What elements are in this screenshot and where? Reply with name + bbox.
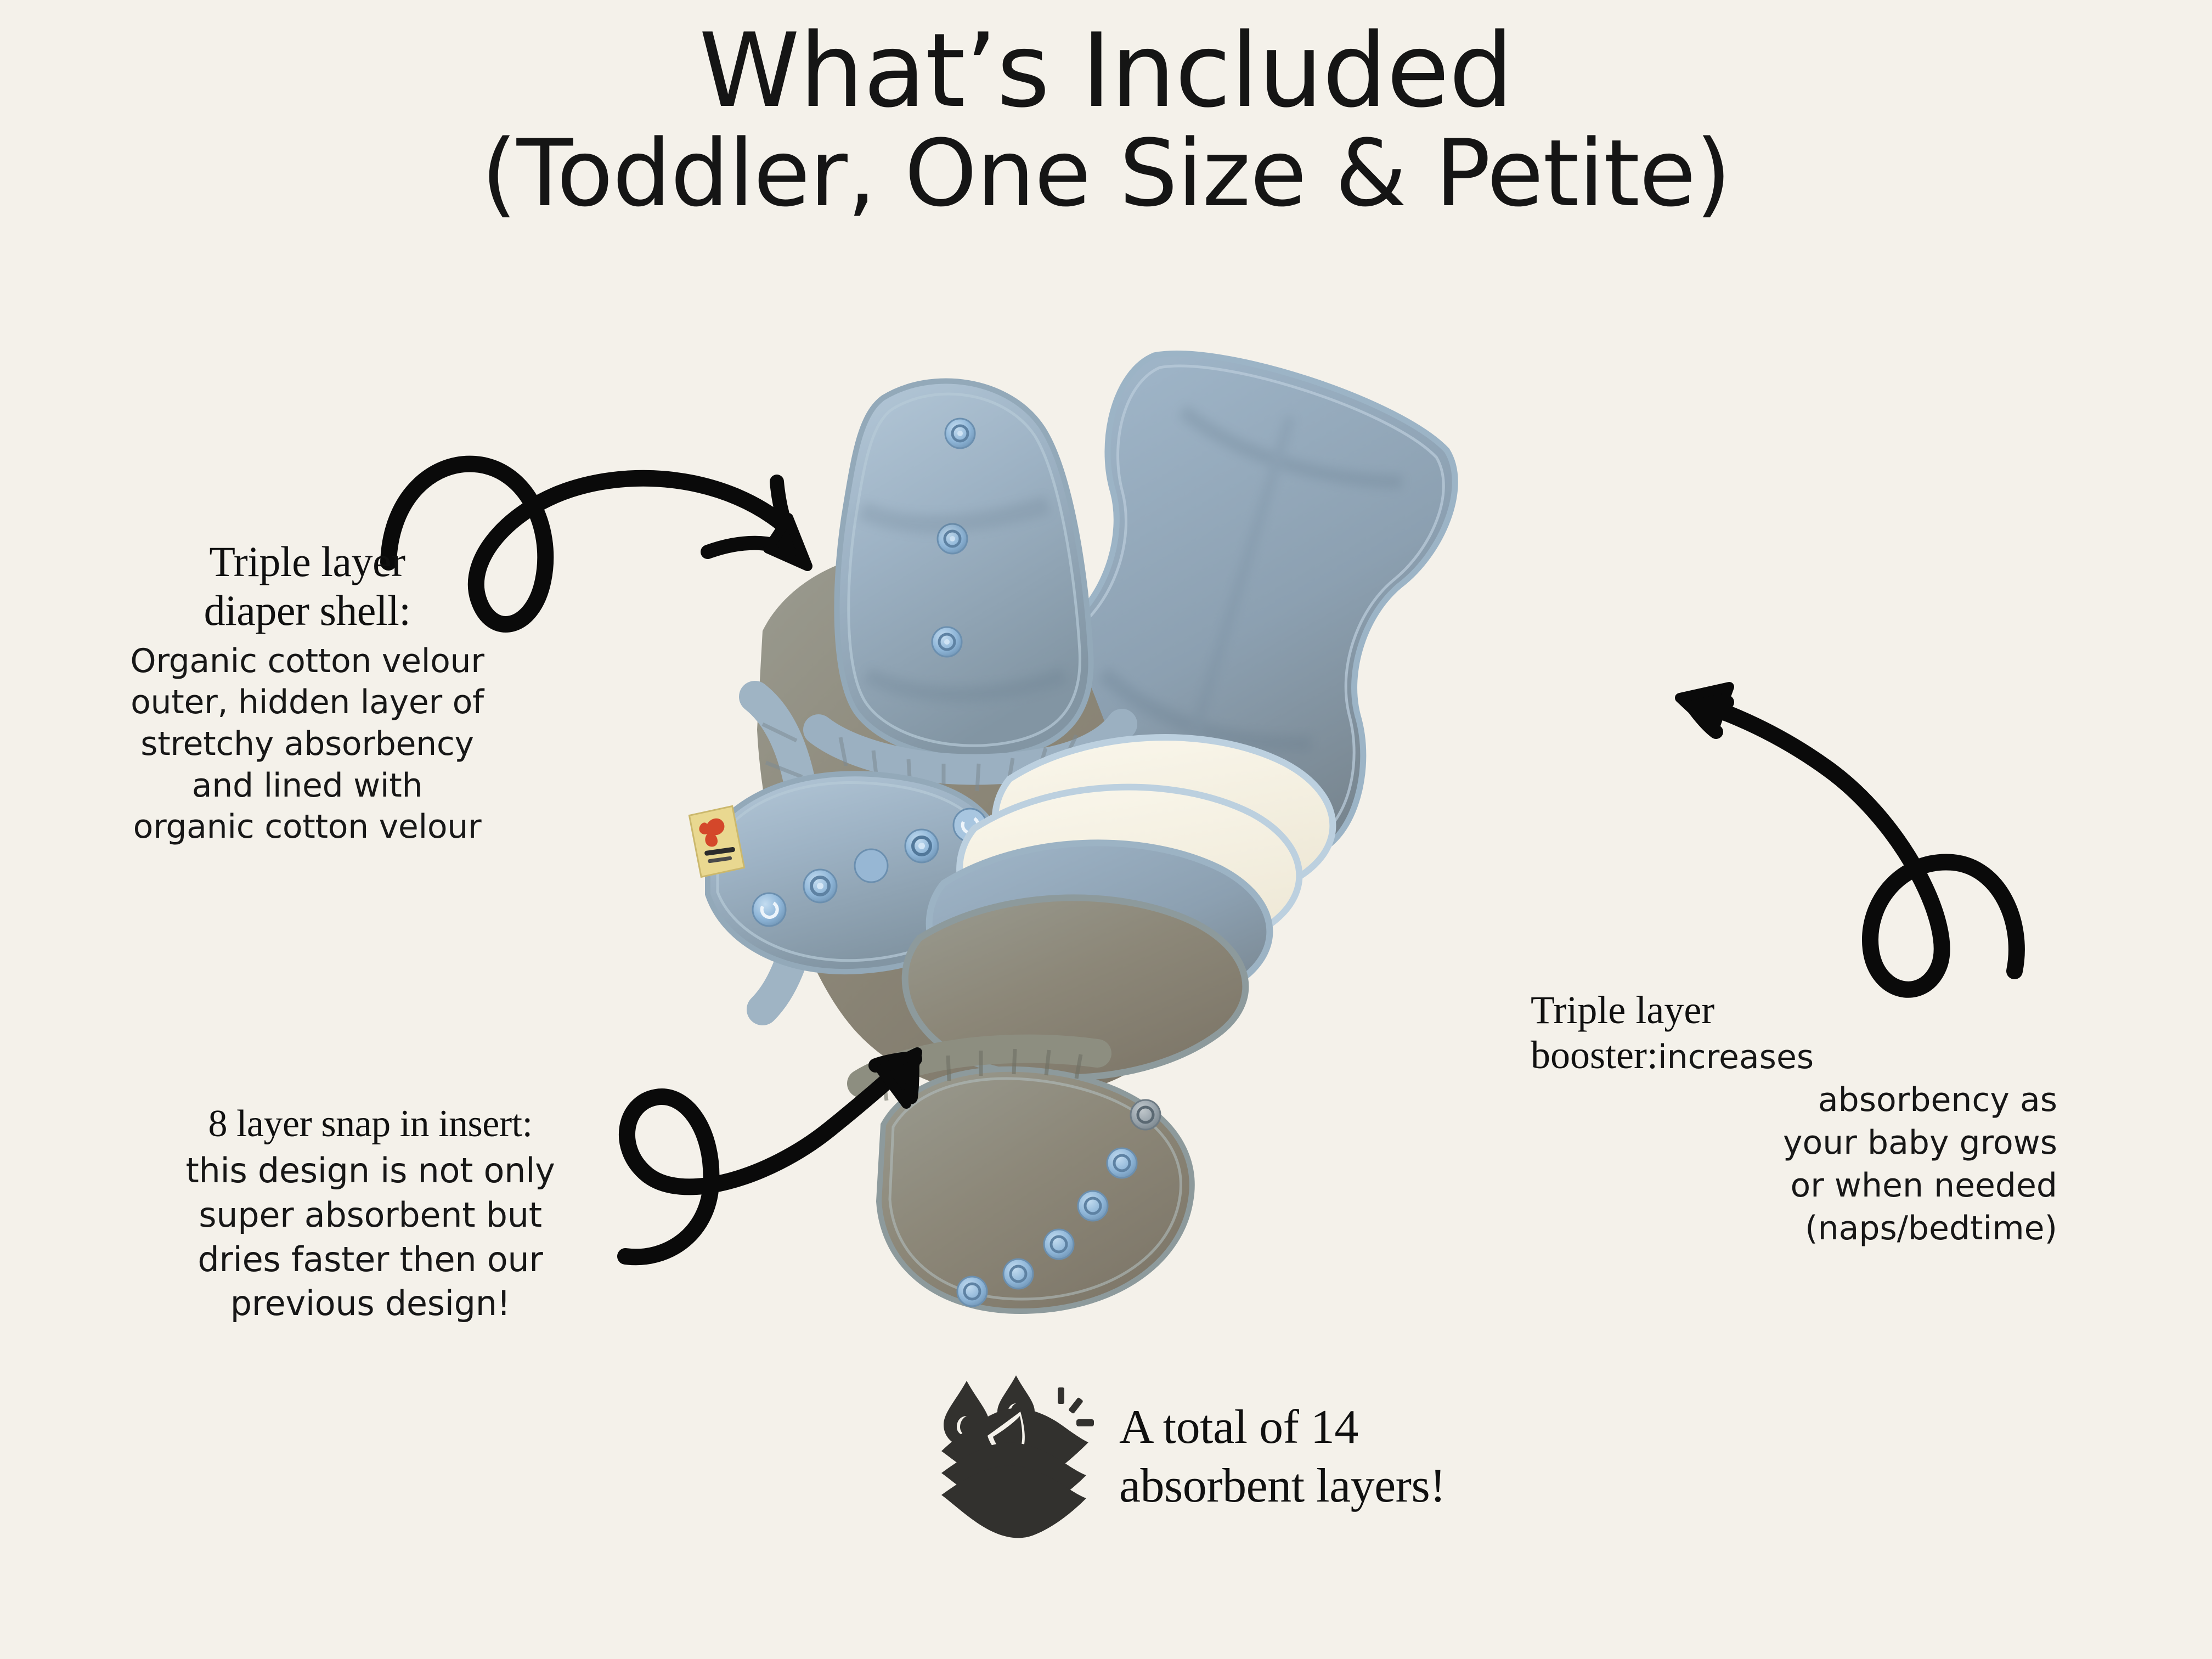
callout-booster-lead: increases [1658, 1038, 1814, 1076]
total-layers-block: A total of 14 absorbent layers! [933, 1374, 1446, 1539]
page-title: What’s Included (Toddler, One Size & Pet… [0, 16, 2212, 222]
total-layers-text: A total of 14 absorbent layers! [1119, 1398, 1446, 1516]
title-line-1: What’s Included [0, 16, 2212, 125]
callout-insert-body: this design is not only super absorbent … [118, 1149, 623, 1325]
arrow-to-booster [1680, 687, 2017, 990]
callout-triple-layer-booster: Triple layer booster:increases absorbenc… [1531, 988, 2057, 1250]
callout-booster-heading-row: booster:increases [1531, 1032, 2057, 1077]
callout-shell-heading: Triple layer diaper shell: [60, 538, 554, 635]
shell-wing-bottom [861, 1049, 1192, 1311]
callout-insert-heading: 8 layer snap in insert: [118, 1103, 623, 1145]
callout-booster-body: absorbency as your baby grows or when ne… [1531, 1079, 2057, 1250]
callout-diaper-shell: Triple layer diaper shell: Organic cotto… [60, 538, 554, 848]
absorbent-layers-icon [933, 1374, 1097, 1539]
poster-canvas: What’s Included (Toddler, One Size & Pet… [0, 0, 2212, 1659]
callout-shell-body: Organic cotton velour outer, hidden laye… [60, 641, 554, 848]
callout-snap-in-insert: 8 layer snap in insert: this design is n… [118, 1103, 623, 1326]
callout-booster-heading-line1: Triple layer [1531, 988, 2057, 1032]
callout-booster-heading-line2: booster: [1531, 1033, 1658, 1077]
shell-rise-panel [837, 381, 1091, 758]
title-line-2: (Toddler, One Size & Petite) [0, 125, 2212, 222]
